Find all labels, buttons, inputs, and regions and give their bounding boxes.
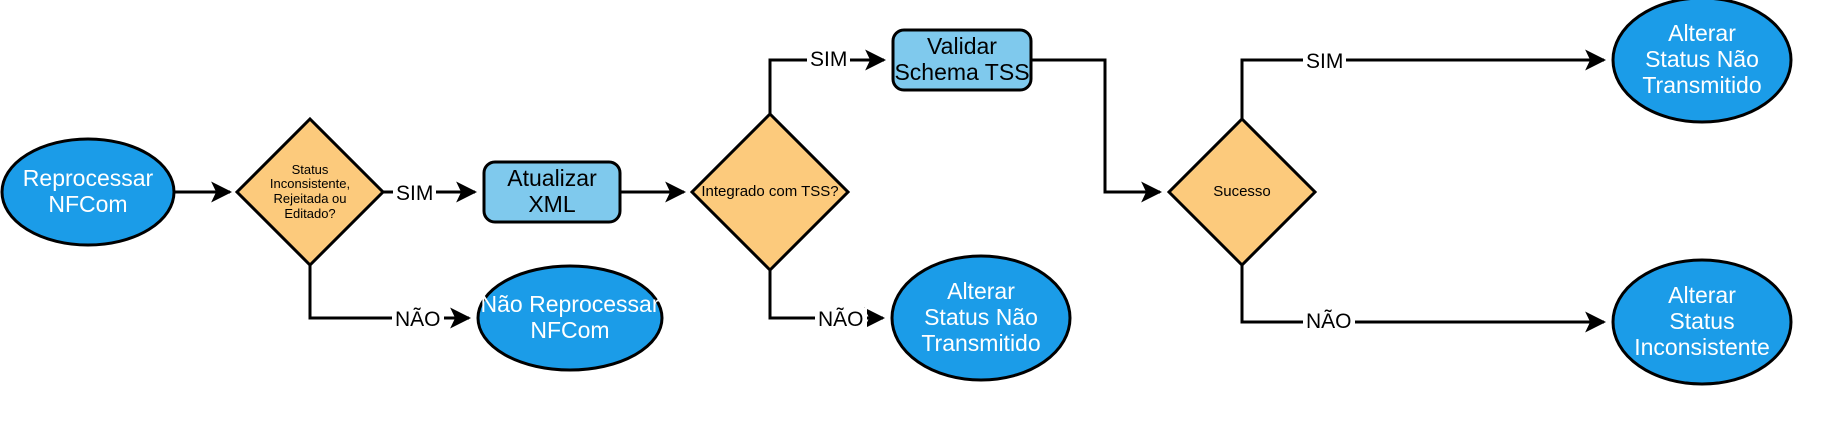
node-nao-reprocessar-nfcom[interactable] <box>478 266 662 370</box>
node-decision-integrado-com-tss[interactable] <box>692 114 848 270</box>
edge-decision1-nao-to-nao-reprocessar <box>310 265 469 318</box>
edge-label-decision3-nao: NÃO <box>1303 310 1355 334</box>
edge-decision3-nao-to-alterar-status-inconsistente <box>1242 265 1604 322</box>
edge-label-decision2-sim: SIM <box>807 48 850 72</box>
node-alterar-status-inconsistente[interactable] <box>1613 260 1791 384</box>
edge-label-decision2-nao: NÃO <box>815 308 867 332</box>
node-atualizar-xml[interactable] <box>484 162 620 222</box>
edge-decision3-sim-to-alterar-status-nao-transmitido <box>1242 60 1604 119</box>
edge-label-decision1-sim: SIM <box>393 182 436 206</box>
edge-label-decision3-sim: SIM <box>1303 50 1346 74</box>
node-decision-status-inconsistente[interactable] <box>237 119 383 265</box>
edge-label-decision1-nao: NÃO <box>392 308 444 332</box>
flowchart-graphics <box>0 0 1822 442</box>
node-reprocessar-nfcom[interactable] <box>2 139 174 245</box>
node-alterar-status-nao-transmitido-top[interactable] <box>1613 0 1791 122</box>
flowchart-canvas: Reprocessar NFCom Status Inconsistente, … <box>0 0 1822 442</box>
node-decision-sucesso[interactable] <box>1169 119 1315 265</box>
node-validar-schema-tss[interactable] <box>893 30 1031 90</box>
edge-validar-schema-to-decision3 <box>1031 60 1160 192</box>
node-alterar-status-nao-transmitido-middle[interactable] <box>892 256 1070 380</box>
